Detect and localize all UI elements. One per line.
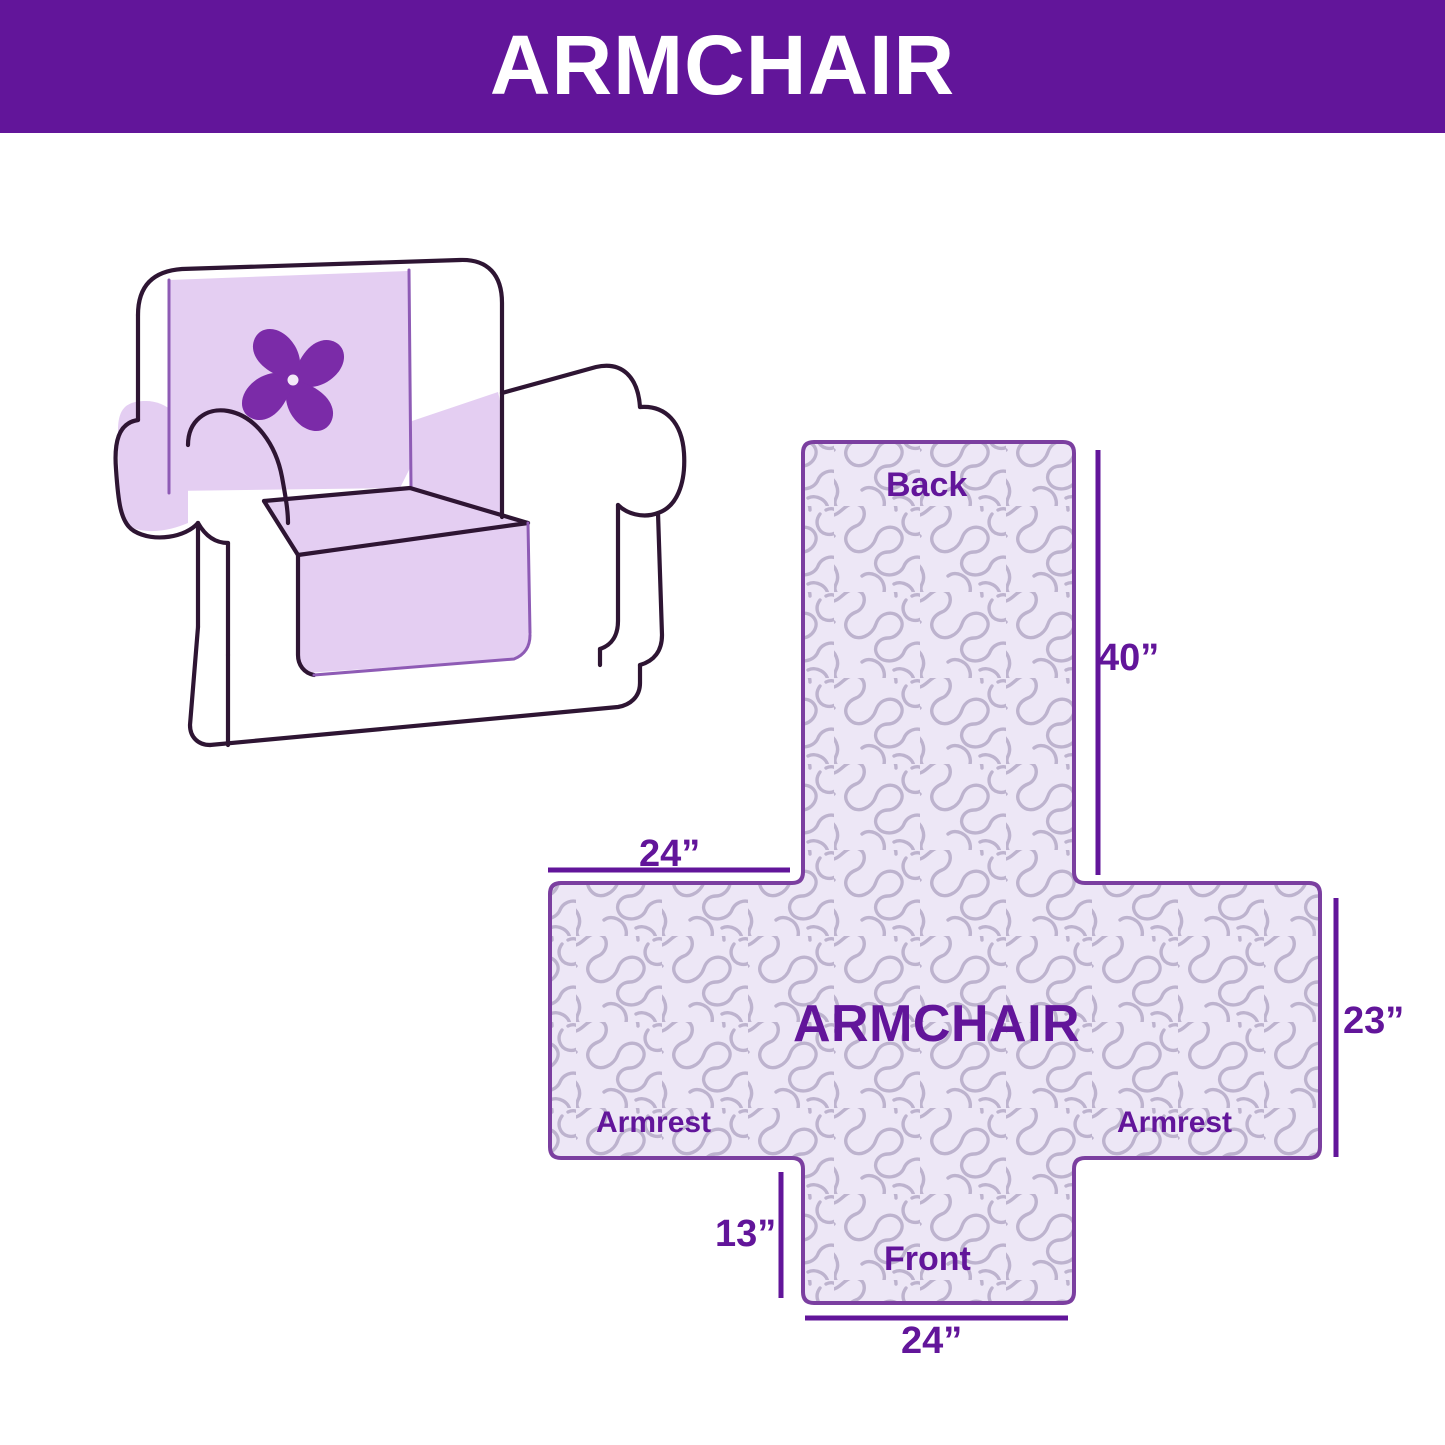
chair-base-left [190,627,210,745]
chair-left-arm-fill [118,401,188,531]
cross-panel-fill [490,420,1445,1420]
product-dimension-infographic: ARMCHAIR [0,0,1445,1445]
slipcover-pattern-diagram [490,420,1445,1420]
chair-cover-seam-right [409,270,411,487]
pinwheel-fan-logo [242,329,344,431]
chair-left-arm-front-curve [198,523,228,543]
page-title: ARMCHAIR [490,23,955,107]
header-banner: ARMCHAIR [0,0,1445,133]
chair-right-arm-top [502,366,640,407]
